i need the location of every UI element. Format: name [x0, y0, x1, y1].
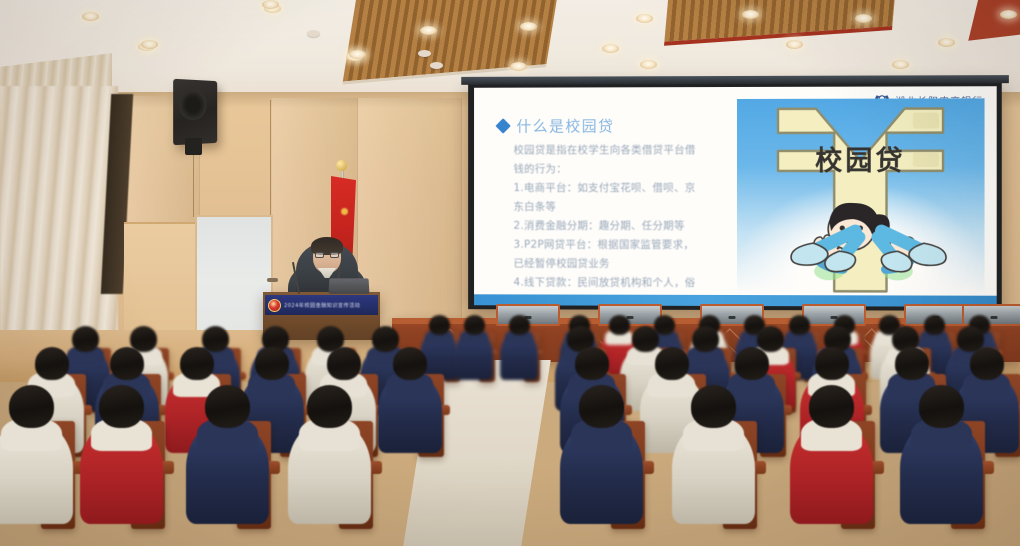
slide-body-line: 东白条等 — [513, 200, 710, 214]
cartoon-legs-shoes — [773, 223, 964, 279]
recessed-downlight — [349, 50, 366, 59]
recessed-downlight — [892, 60, 909, 69]
student-head — [924, 315, 945, 335]
door-handle[interactable] — [267, 278, 278, 282]
student-head — [735, 347, 769, 380]
recessed-downlight — [602, 44, 619, 53]
student-head — [757, 326, 784, 352]
projection-screen: 湖北长阳农商银行 什么是校园贷 校园贷是指在校学生向各类借贷平台借 钱的行为： … — [468, 81, 1002, 311]
slide-body-line: 已经暂停校园贷业务 — [513, 257, 710, 271]
recessed-downlight — [141, 40, 158, 49]
student-head — [307, 385, 352, 428]
slide-body-line: 1.电商平台：如支付宝花呗、借呗、京 — [513, 181, 710, 195]
recessed-downlight — [510, 62, 527, 71]
flag-star-icon — [341, 208, 348, 215]
student-head — [464, 315, 485, 335]
campus-loan-cartoon: 校园贷 — [737, 98, 985, 295]
student-head — [72, 326, 99, 352]
student-head — [691, 385, 736, 428]
student-head — [393, 347, 427, 380]
student-head — [327, 347, 361, 380]
diamond-bullet-icon — [495, 118, 510, 133]
recessed-downlight — [420, 26, 437, 35]
hanging-cord — [270, 100, 271, 218]
student-head — [35, 347, 69, 380]
presenter-laptop[interactable] — [329, 278, 370, 294]
student-head — [632, 326, 659, 352]
recessed-downlight — [262, 0, 279, 9]
flag-pole-finial — [336, 160, 347, 171]
student-head — [429, 315, 450, 335]
student-head — [789, 315, 810, 335]
student-head — [895, 347, 929, 380]
student-head — [655, 347, 689, 380]
speaker-bracket — [185, 138, 202, 155]
recessed-downlight — [520, 22, 537, 31]
lectern-banner: 2024年校园金融知识宣传活动 — [265, 295, 378, 315]
hanging-cord — [193, 155, 194, 217]
recessed-downlight — [742, 10, 759, 19]
student-head — [110, 347, 144, 380]
lectern-banner-text: 2024年校园金融知识宣传活动 — [284, 302, 360, 309]
student-head — [609, 315, 630, 335]
slide-title: 什么是校园贷 — [516, 115, 614, 136]
recessed-downlight — [82, 12, 99, 21]
slide-body-line: 钱的行为： — [513, 162, 710, 176]
presentation-slide: 湖北长阳农商银行 什么是校园贷 校园贷是指在校学生向各类借贷平台借 钱的行为： … — [474, 86, 997, 307]
recessed-downlight — [636, 14, 653, 23]
smoke-detector — [418, 50, 431, 57]
student-head — [202, 326, 229, 352]
recessed-downlight — [640, 60, 657, 69]
desktop-monitor[interactable] — [598, 304, 662, 326]
student-head — [575, 347, 609, 380]
student-head — [205, 385, 250, 428]
student-head — [970, 347, 1004, 380]
student-head — [815, 347, 849, 380]
student-head — [180, 347, 214, 380]
student-head — [99, 385, 144, 428]
slide-body-line: 3.P2P网贷平台：根据国家监管要求， — [513, 238, 710, 252]
slide-body-text: 校园贷是指在校学生向各类借贷平台借 钱的行为： 1.电商平台：如支付宝花呗、借呗… — [513, 143, 710, 307]
recessed-downlight — [786, 40, 803, 49]
student-head — [919, 385, 964, 428]
student-head — [579, 385, 624, 428]
student-head — [509, 315, 530, 335]
slide-body-line: 校园贷是指在校学生向各类借贷平台借 — [513, 143, 710, 157]
recessed-downlight — [1000, 10, 1017, 19]
speaker-cone-icon — [179, 89, 206, 120]
student-head — [255, 347, 289, 380]
lecture-hall-photo: 湖北长阳农商银行 什么是校园贷 校园贷是指在校学生向各类借贷平台借 钱的行为： … — [0, 0, 1020, 546]
recessed-downlight — [938, 38, 955, 47]
slide-body-line: 2.消费金融分期：趣分期、任分期等 — [513, 219, 710, 233]
slide-title-row: 什么是校园贷 — [498, 115, 615, 136]
pleated-curtain — [0, 86, 118, 358]
student-head — [9, 385, 54, 428]
student-head — [692, 326, 719, 352]
national-emblem-icon — [268, 299, 281, 312]
recessed-downlight — [855, 14, 872, 23]
cartoon-label: 校园贷 — [815, 139, 906, 178]
smoke-detector — [430, 62, 443, 69]
wood-slat-ceiling-panel — [968, 0, 1020, 41]
student-head — [372, 326, 399, 352]
wall-mounted-loudspeaker — [173, 79, 217, 145]
student-head — [809, 385, 854, 428]
presenter-glasses-icon — [315, 252, 339, 258]
slide-body-line: 4.线下贷款：民间放贷机构和个人，俗 — [513, 276, 710, 290]
smoke-detector — [307, 30, 320, 37]
